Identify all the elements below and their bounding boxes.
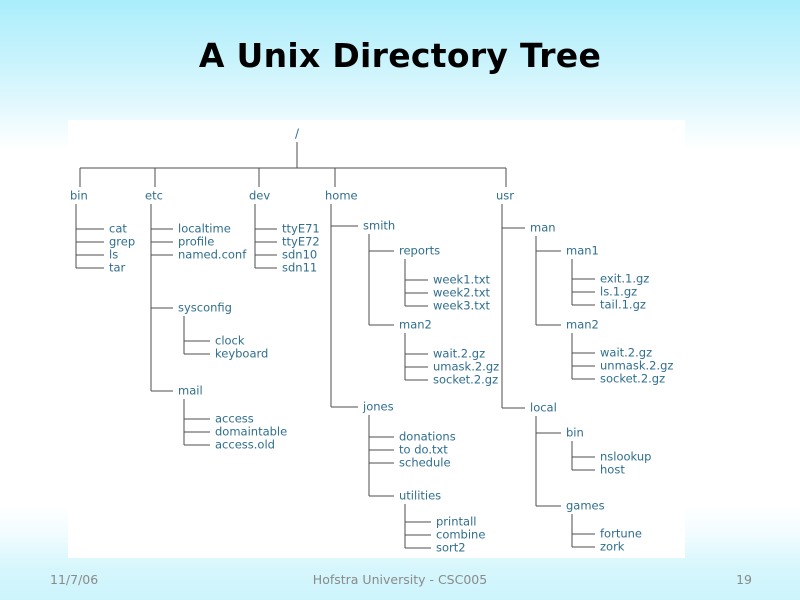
tree-node-tail-1-gz: tail.1.gz [600, 298, 646, 312]
directory-tree-diagram: /bincatgreplstaretclocaltimeprofilenamed… [0, 0, 800, 600]
tree-node-domaintable: domaintable [215, 425, 287, 439]
tree-node-named-conf: named.conf [178, 248, 247, 262]
tree-node-sdn11: sdn11 [282, 261, 317, 275]
tree-node-combine: combine [436, 528, 485, 542]
tree-node-access-old: access.old [215, 438, 275, 452]
tree-node-labels: /bincatgreplstaretclocaltimeprofilenamed… [70, 127, 673, 555]
tree-node-socket-2-gz: socket.2.gz [433, 373, 498, 387]
tree-node-keyboard: keyboard [215, 347, 268, 361]
tree-node-schedule: schedule [399, 456, 451, 470]
tree-node-sysconfig: sysconfig [178, 301, 232, 315]
tree-node-local: local [530, 401, 557, 415]
tree-node-donations: donations [399, 430, 456, 444]
tree-node-week1-txt: week1.txt [433, 273, 491, 287]
footer-page-number: 19 [736, 572, 752, 587]
tree-node-clock: clock [215, 334, 245, 348]
slide-canvas: A Unix Directory Tree /bincatgreplstaret… [0, 0, 800, 600]
tree-connector-lines [76, 142, 595, 548]
tree-node-man2: man2 [566, 318, 599, 332]
tree-node-utilities: utilities [399, 489, 441, 503]
tree-node-usr: usr [496, 189, 514, 203]
tree-node-week2-txt: week2.txt [433, 286, 491, 300]
tree-node-zork: zork [600, 540, 625, 554]
tree-node-mail: mail [178, 384, 203, 398]
tree-node-sdn10: sdn10 [282, 248, 317, 262]
tree-node-cat: cat [109, 222, 127, 236]
tree-node-exit-1-gz: exit.1.gz [600, 272, 649, 286]
tree-node-printall: printall [436, 515, 476, 529]
tree-node-profile: profile [178, 235, 214, 249]
tree-node-nslookup: nslookup [600, 450, 651, 464]
tree-node-bin: bin [566, 426, 584, 440]
tree-node-dev: dev [249, 189, 270, 203]
tree-node-to-do-txt: to do.txt [399, 443, 448, 457]
tree-node-umask-2-gz: umask.2.gz [433, 360, 499, 374]
tree-node-games: games [566, 499, 605, 513]
tree-node-reports: reports [399, 244, 440, 258]
tree-node-etc: etc [145, 189, 163, 203]
tree-node-smith: smith [363, 219, 395, 233]
tree-node-access: access [215, 412, 254, 426]
tree-node-ttye71: ttyE71 [282, 222, 320, 236]
tree-node-jones: jones [362, 400, 394, 414]
tree-node-wait-2-gz: wait.2.gz [433, 347, 485, 361]
tree-node-bin: bin [70, 189, 88, 203]
tree-node-sort2: sort2 [436, 541, 466, 555]
tree-node-localtime: localtime [178, 222, 231, 236]
tree-node-unmask-2-gz: unmask.2.gz [600, 359, 673, 373]
tree-node-ls: ls [109, 248, 118, 262]
tree-node-wait-2-gz: wait.2.gz [600, 346, 652, 360]
tree-node-socket-2-gz: socket.2.gz [600, 372, 665, 386]
tree-node-man1: man1 [566, 244, 599, 258]
tree-node-: / [295, 127, 300, 141]
tree-node-fortune: fortune [600, 527, 642, 541]
tree-node-ls-1-gz: ls.1.gz [600, 285, 637, 299]
tree-node-man: man [530, 221, 556, 235]
tree-node-home: home [325, 189, 358, 203]
tree-node-week3-txt: week3.txt [433, 299, 491, 313]
tree-node-man2: man2 [399, 318, 432, 332]
footer-course-label: Hofstra University - CSC005 [0, 572, 800, 587]
tree-node-tar: tar [109, 261, 126, 275]
tree-node-ttye72: ttyE72 [282, 235, 320, 249]
tree-node-grep: grep [109, 235, 135, 249]
tree-node-host: host [600, 463, 625, 477]
